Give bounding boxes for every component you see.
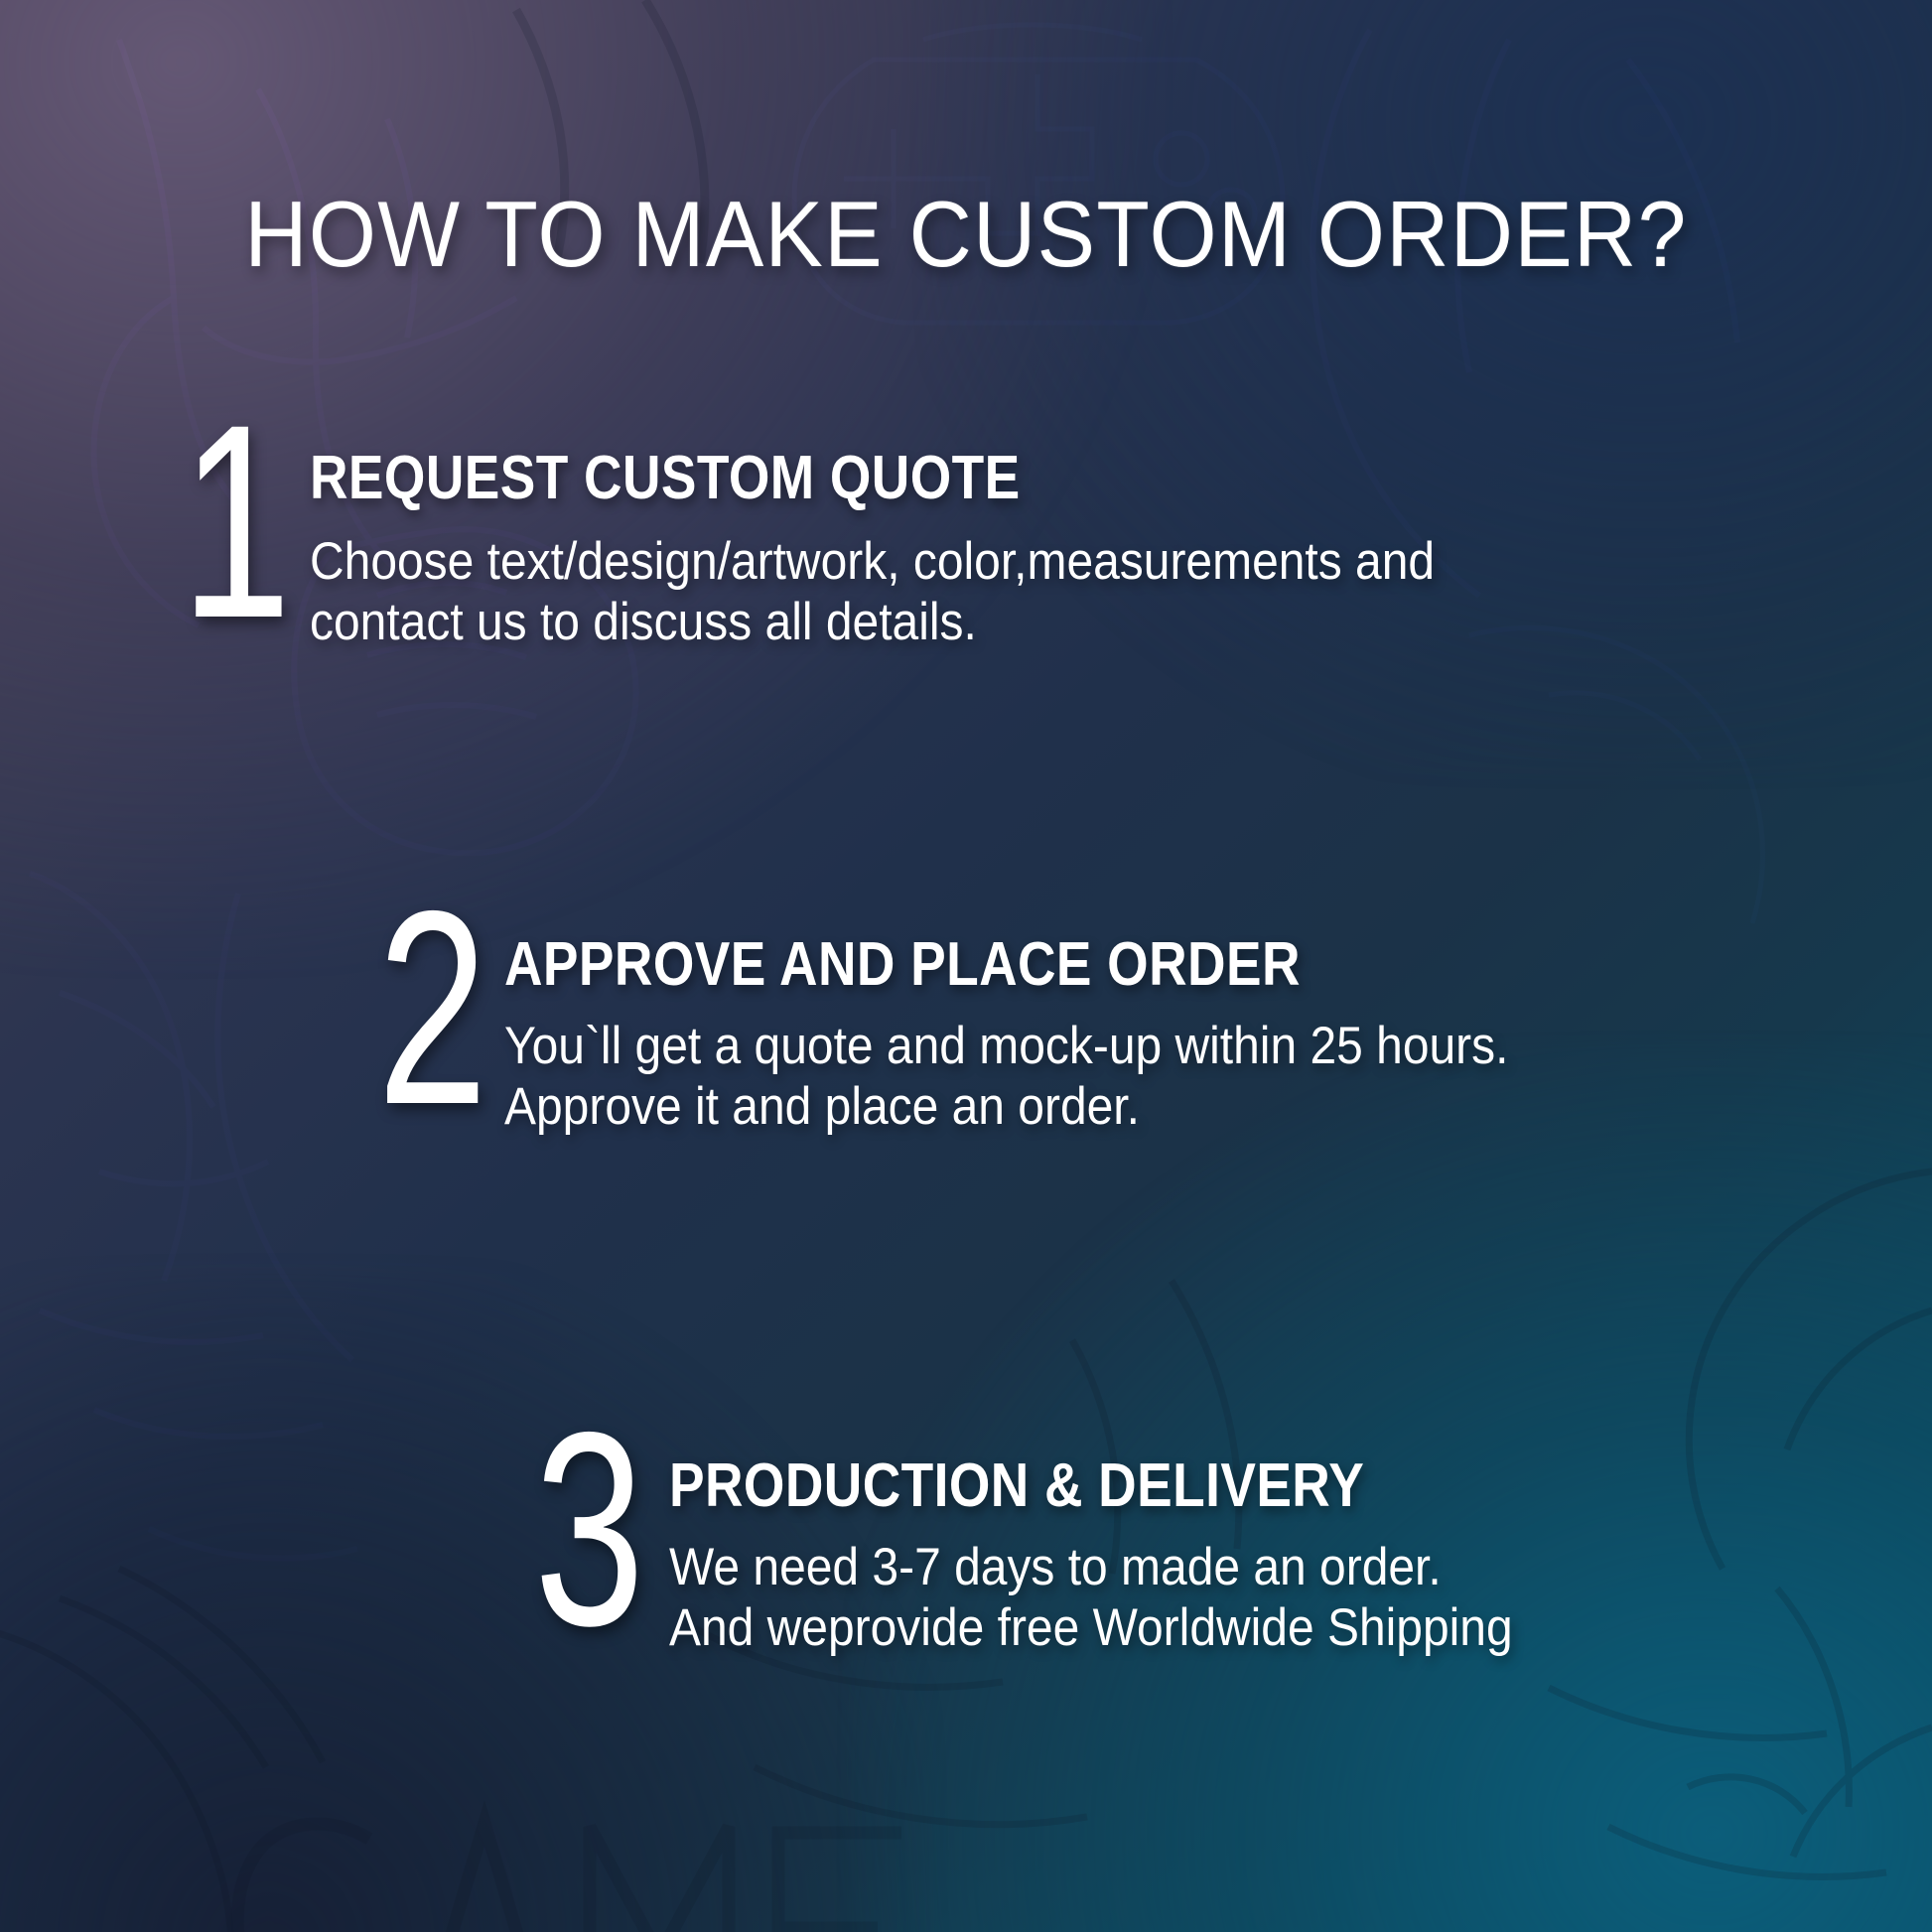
step-body-2: APPROVE AND PLACE ORDER You`ll get a quo… bbox=[504, 934, 1614, 1138]
poster-content: HOW TO MAKE CUSTOM ORDER? 1 REQUEST CUST… bbox=[0, 0, 1932, 1932]
poster-canvas: HOW TO MAKE CUSTOM ORDER? 1 REQUEST CUST… bbox=[0, 0, 1932, 1932]
step-description-1: Choose text/design/artwork, color,measur… bbox=[310, 531, 1435, 653]
step-item-1: 1 REQUEST CUSTOM QUOTE Choose text/desig… bbox=[181, 422, 1553, 653]
step-description-2-line-1: You`ll get a quote and mock-up within 25… bbox=[504, 1016, 1508, 1076]
step-item-3: 3 PRODUCTION & DELIVERY We need 3-7 days… bbox=[534, 1430, 1601, 1659]
step-description-3: We need 3-7 days to made an order. And w… bbox=[669, 1537, 1513, 1659]
step-description-3-line-1: We need 3-7 days to made an order. bbox=[669, 1537, 1513, 1597]
step-number-3: 3 bbox=[534, 1430, 641, 1628]
step-number-1: 1 bbox=[181, 422, 288, 621]
step-description-1-line-1: Choose text/design/artwork, color,measur… bbox=[310, 531, 1435, 592]
page-title: HOW TO MAKE CUSTOM ORDER? bbox=[68, 185, 1864, 284]
step-number-2: 2 bbox=[377, 908, 484, 1107]
step-heading-2: APPROVE AND PLACE ORDER bbox=[504, 934, 1458, 996]
step-body-3: PRODUCTION & DELIVERY We need 3-7 days t… bbox=[669, 1455, 1601, 1659]
step-description-1-line-2: contact us to discuss all details. bbox=[310, 592, 1435, 652]
step-item-2: 2 APPROVE AND PLACE ORDER You`ll get a q… bbox=[377, 908, 1614, 1138]
step-description-2: You`ll get a quote and mock-up within 25… bbox=[504, 1016, 1508, 1138]
step-body-1: REQUEST CUSTOM QUOTE Choose text/design/… bbox=[310, 448, 1553, 653]
step-description-2-line-2: Approve it and place an order. bbox=[504, 1076, 1508, 1137]
step-heading-1: REQUEST CUSTOM QUOTE bbox=[310, 448, 1379, 509]
step-description-3-line-2: And weprovide free Worldwide Shipping bbox=[669, 1597, 1513, 1658]
step-heading-3: PRODUCTION & DELIVERY bbox=[669, 1455, 1470, 1517]
